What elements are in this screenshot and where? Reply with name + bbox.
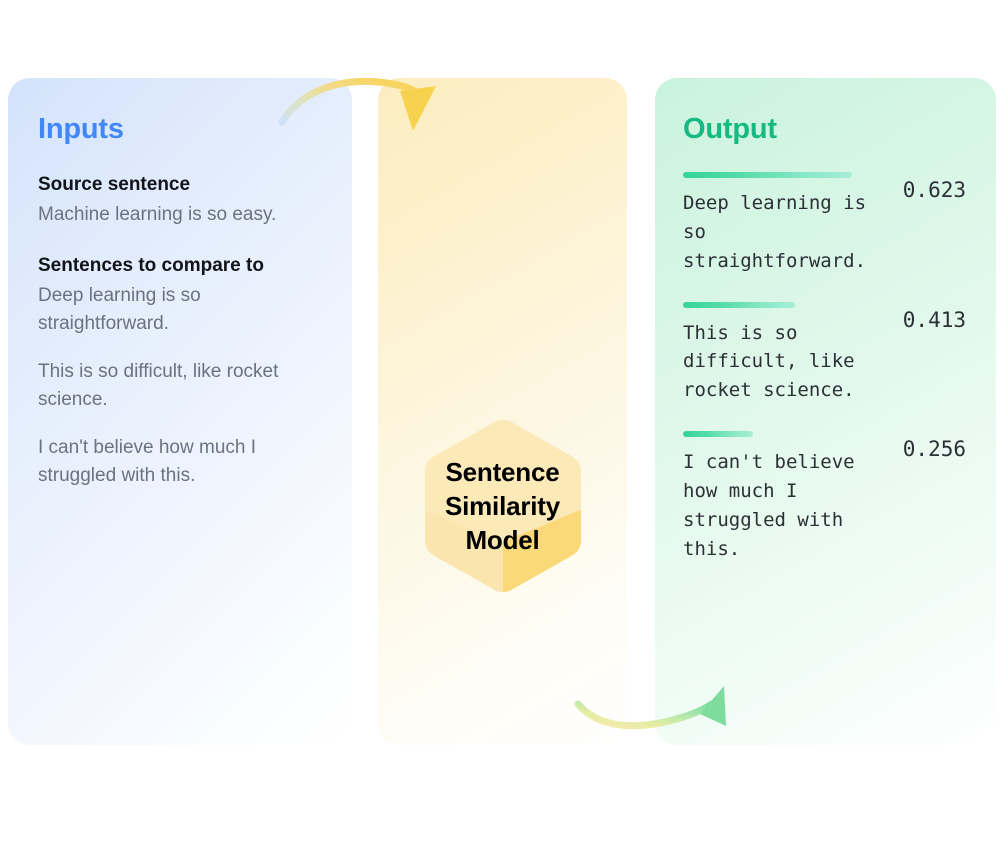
model-panel: Sentence Similarity Model xyxy=(378,78,627,745)
inputs-panel-heading: Inputs xyxy=(38,114,318,146)
result-sentence: I can't believe how much I struggled wit… xyxy=(683,448,898,564)
similarity-score: 0.623 xyxy=(903,180,966,201)
result-sentence: This is so difficult, like rocket scienc… xyxy=(683,319,898,406)
model-cube-label: Sentence Similarity Model xyxy=(399,416,607,596)
similarity-bar-fill xyxy=(683,172,852,178)
source-sentence-text: Machine learning is so easy. xyxy=(38,201,318,229)
model-label-line-2: Similarity xyxy=(445,489,560,523)
similarity-bar-track xyxy=(683,302,955,308)
similarity-bar-fill xyxy=(683,302,795,308)
compare-sentence-2: This is so difficult, like rocket scienc… xyxy=(38,358,318,414)
output-panel-heading: Output xyxy=(683,114,966,146)
similarity-score: 0.256 xyxy=(903,439,966,460)
model-label-line-3: Model xyxy=(465,523,539,557)
compare-sentence-1: Deep learning is so straightforward. xyxy=(38,282,318,338)
model-label-line-1: Sentence xyxy=(445,455,559,489)
similarity-bar-track xyxy=(683,172,955,178)
result-row: Deep learning is so straightforward. 0.6… xyxy=(683,172,966,276)
model-cube: Sentence Similarity Model xyxy=(421,416,585,596)
similarity-bar-fill xyxy=(683,431,753,437)
result-row: This is so difficult, like rocket scienc… xyxy=(683,302,966,406)
result-sentence: Deep learning is so straightforward. xyxy=(683,189,898,276)
similarity-score: 0.413 xyxy=(903,310,966,331)
sentences-to-compare-label: Sentences to compare to xyxy=(38,253,318,280)
output-panel: Output Deep learning is so straightforwa… xyxy=(655,78,996,745)
result-row: I can't believe how much I struggled wit… xyxy=(683,431,966,564)
diagram-canvas: Inputs Source sentence Machine learning … xyxy=(0,0,1004,845)
source-sentence-label: Source sentence xyxy=(38,172,318,199)
inputs-panel: Inputs Source sentence Machine learning … xyxy=(8,78,352,745)
compare-sentence-3: I can't believe how much I struggled wit… xyxy=(38,434,318,490)
